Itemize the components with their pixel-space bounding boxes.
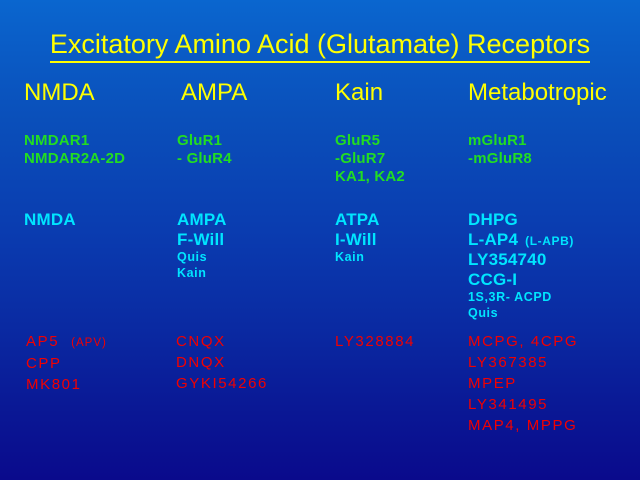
subunit-item: -mGluR8: [468, 151, 532, 166]
subunit-item: KA1, KA2: [335, 169, 405, 184]
column-header-kain: Kain: [335, 79, 383, 107]
agonist-item: Kain: [335, 251, 380, 264]
column-header-ampa: AMPA: [181, 79, 247, 107]
agonist-item: NMDA: [24, 211, 76, 228]
antagonist-item: MK801: [26, 377, 107, 392]
agonist-item: DHPG: [468, 211, 574, 228]
antagonist-item: DNQX: [176, 355, 268, 370]
agonist-item: ATPA: [335, 211, 380, 228]
agonist-list-nmda: NMDA: [24, 211, 76, 231]
antagonist-item: CPP: [26, 356, 107, 371]
subunit-list-kain: GluR5 -GluR7 KA1, KA2: [335, 133, 405, 187]
antagonist-list-ampa: CNQX DNQX GYKI54266: [176, 334, 268, 397]
subunit-list-ampa: GluR1 - GluR4: [177, 133, 232, 169]
agonist-item: AMPA: [177, 211, 227, 228]
agonist-list-metabotropic: DHPG L-AP4(L-APB) LY354740 CCG-I 1S,3R- …: [468, 211, 574, 322]
subunit-item: GluR1: [177, 133, 232, 148]
agonist-list-ampa: AMPA F-Will Quis Kain: [177, 211, 227, 282]
antagonist-item: MAP4, MPPG: [468, 418, 578, 433]
antagonist-item-label: AP5: [26, 333, 59, 350]
column-header-nmda: NMDA: [24, 79, 95, 107]
agonist-item-label: L-AP4: [468, 230, 518, 249]
antagonist-item: CNQX: [176, 334, 268, 349]
antagonist-item: GYKI54266: [176, 376, 268, 391]
subunit-item: mGluR1: [468, 133, 532, 148]
antagonist-item: MCPG, 4CPG: [468, 334, 578, 349]
antagonist-item-note: (APV): [71, 337, 107, 349]
agonist-item: CCG-I: [468, 271, 574, 288]
slide-title-text: Excitatory Amino Acid (Glutamate) Recept…: [50, 29, 590, 63]
column-header-metabotropic: Metabotropic: [468, 79, 607, 107]
antagonist-item: LY328884: [335, 334, 415, 349]
slide-canvas: Excitatory Amino Acid (Glutamate) Recept…: [0, 0, 640, 480]
antagonist-item: AP5(APV): [26, 334, 107, 350]
antagonist-list-nmda: AP5(APV) CPP MK801: [26, 334, 107, 398]
subunit-item: NMDAR1: [24, 133, 125, 148]
agonist-item: LY354740: [468, 251, 574, 268]
agonist-list-kain: ATPA I-Will Kain: [335, 211, 380, 267]
subunit-item: -GluR7: [335, 151, 405, 166]
slide-title: Excitatory Amino Acid (Glutamate) Recept…: [0, 29, 640, 60]
antagonist-item: MPEP: [468, 376, 578, 391]
agonist-item: L-AP4(L-APB): [468, 231, 574, 248]
agonist-item: Kain: [177, 267, 227, 280]
subunit-item: GluR5: [335, 133, 405, 148]
antagonist-item: LY367385: [468, 355, 578, 370]
antagonist-item: LY341495: [468, 397, 578, 412]
subunit-list-metabotropic: mGluR1 -mGluR8: [468, 133, 532, 169]
antagonist-list-metabotropic: MCPG, 4CPG LY367385 MPEP LY341495 MAP4, …: [468, 334, 578, 439]
agonist-item: F-Will: [177, 231, 227, 248]
agonist-item: I-Will: [335, 231, 380, 248]
subunit-item: NMDAR2A-2D: [24, 151, 125, 166]
antagonist-list-kain: LY328884: [335, 334, 415, 355]
subunit-list-nmda: NMDAR1 NMDAR2A-2D: [24, 133, 125, 169]
agonist-item: 1S,3R- ACPD: [468, 291, 574, 304]
subunit-item: - GluR4: [177, 151, 232, 166]
agonist-item: Quis: [177, 251, 227, 264]
agonist-item: Quis: [468, 307, 574, 320]
agonist-item-note: (L-APB): [525, 234, 574, 248]
